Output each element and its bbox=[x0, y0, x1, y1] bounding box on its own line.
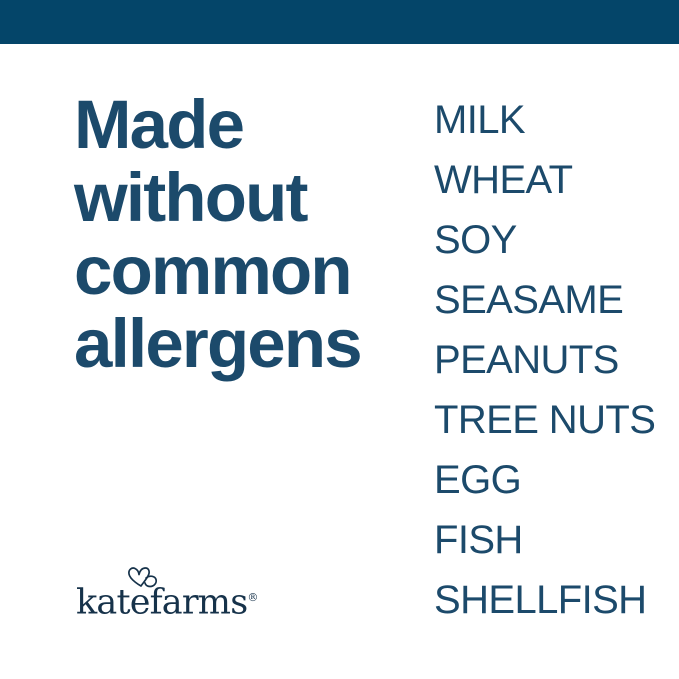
list-item: EGG bbox=[434, 450, 664, 510]
list-item: WHEAT bbox=[434, 150, 664, 210]
list-item: TREE NUTS bbox=[434, 390, 664, 450]
top-color-band bbox=[0, 0, 679, 44]
logo-wordmark: katefarms® bbox=[76, 578, 258, 623]
registered-trademark-icon: ® bbox=[247, 591, 258, 604]
list-item: SEASAME bbox=[434, 270, 664, 330]
list-item: PEANUTS bbox=[434, 330, 664, 390]
allergen-list: MILK WHEAT SOY SEASAME PEANUTS TREE NUTS… bbox=[434, 90, 664, 630]
headline-line-1: Made bbox=[74, 88, 404, 161]
logo-wordmark-text: katefarms bbox=[76, 583, 247, 623]
list-item: SOY bbox=[434, 210, 664, 270]
headline-line-4: allergens bbox=[74, 307, 404, 380]
headline-line-2: without bbox=[74, 161, 404, 234]
list-item: MILK bbox=[434, 90, 664, 150]
headline-column: Made without common allergens bbox=[74, 88, 404, 380]
page-title: Made without common allergens bbox=[74, 88, 404, 380]
list-item: FISH bbox=[434, 510, 664, 570]
headline-line-3: common bbox=[74, 234, 404, 307]
brand-logo: katefarms® bbox=[76, 566, 276, 618]
allergen-info-poster: Made without common allergens MILK WHEAT… bbox=[0, 0, 679, 679]
list-item: SHELLFISH bbox=[434, 570, 664, 630]
